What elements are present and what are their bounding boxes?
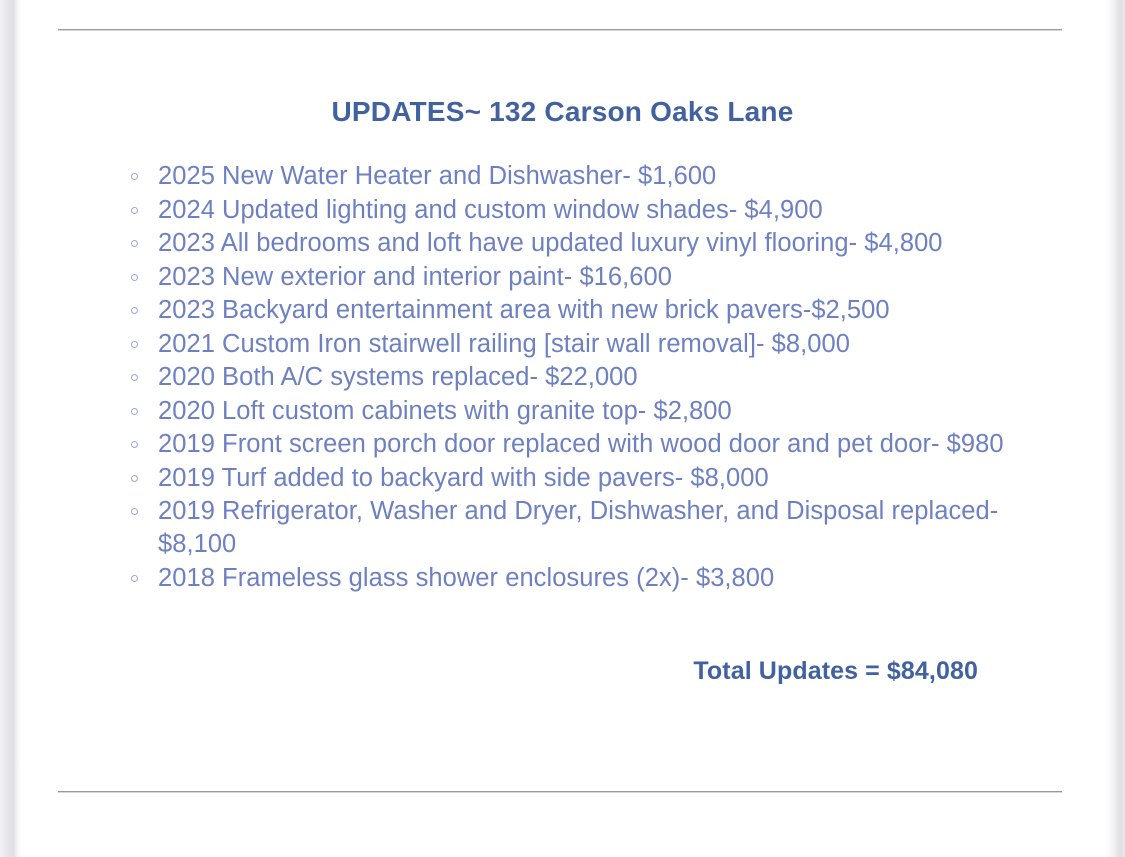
list-item-label: 2023 New exterior and interior paint- $1… — [158, 263, 672, 291]
total-updates-label: Total Updates = $84,080 — [693, 657, 978, 686]
bullet-circle-icon — [131, 307, 138, 314]
list-item-label: 2018 Frameless glass shower enclosures (… — [158, 564, 774, 592]
document-sheet: UPDATES~ 132 Carson Oaks Lane 2025 New W… — [21, 0, 1104, 857]
list-item-label: 2025 New Water Heater and Dishwasher- $1… — [158, 162, 716, 190]
bullet-circle-icon — [131, 274, 138, 281]
bullet-circle-icon — [131, 408, 138, 415]
page-title: UPDATES~ 132 Carson Oaks Lane — [21, 96, 1104, 128]
list-item: 2020 Both A/C systems replaced- $22,000 — [116, 361, 1016, 394]
list-item-label: 2024 Updated lighting and custom window … — [158, 196, 823, 224]
bullet-circle-icon — [131, 508, 138, 515]
list-item: 2023 All bedrooms and loft have updated … — [116, 227, 1016, 260]
list-item: 2023 Backyard entertainment area with ne… — [116, 294, 1016, 327]
bullet-circle-icon — [131, 173, 138, 180]
list-item-label: 2019 Turf added to backyard with side pa… — [158, 464, 769, 492]
bullet-circle-icon — [131, 475, 138, 482]
list-item-label: 2019 Front screen porch door replaced wi… — [158, 430, 1004, 458]
list-item: 2019 Front screen porch door replaced wi… — [116, 428, 1016, 461]
list-item: 2018 Frameless glass shower enclosures (… — [116, 562, 1016, 595]
list-item-label: 2023 All bedrooms and loft have updated … — [158, 229, 943, 257]
list-item: 2023 New exterior and interior paint- $1… — [116, 261, 1016, 294]
list-item: 2025 New Water Heater and Dishwasher- $1… — [116, 160, 1016, 193]
footer-divider-rule — [58, 791, 1062, 792]
list-item-label: 2020 Both A/C systems replaced- $22,000 — [158, 363, 638, 391]
list-item-label: 2020 Loft custom cabinets with granite t… — [158, 397, 732, 425]
header-divider-rule — [58, 29, 1062, 30]
list-item-label: 2023 Backyard entertainment area with ne… — [158, 296, 890, 324]
list-item: 2024 Updated lighting and custom window … — [116, 194, 1016, 227]
bullet-circle-icon — [131, 240, 138, 247]
page-right-edge-shadow — [1104, 0, 1125, 857]
bullet-circle-icon — [131, 207, 138, 214]
bullet-circle-icon — [131, 575, 138, 582]
updates-list: 2025 New Water Heater and Dishwasher- $1… — [116, 160, 1016, 595]
document-page: UPDATES~ 132 Carson Oaks Lane 2025 New W… — [0, 0, 1125, 857]
page-left-edge-shadow — [0, 0, 21, 857]
list-item: 2020 Loft custom cabinets with granite t… — [116, 395, 1016, 428]
list-item: 2021 Custom Iron stairwell railing [stai… — [116, 328, 1016, 361]
list-item-label: 2021 Custom Iron stairwell railing [stai… — [158, 330, 850, 358]
bullet-circle-icon — [131, 441, 138, 448]
bullet-circle-icon — [131, 341, 138, 348]
list-item-label: 2019 Refrigerator, Washer and Dryer, Dis… — [158, 497, 998, 558]
bullet-circle-icon — [131, 374, 138, 381]
list-item: 2019 Turf added to backyard with side pa… — [116, 462, 1016, 495]
list-item: 2019 Refrigerator, Washer and Dryer, Dis… — [116, 495, 1016, 561]
